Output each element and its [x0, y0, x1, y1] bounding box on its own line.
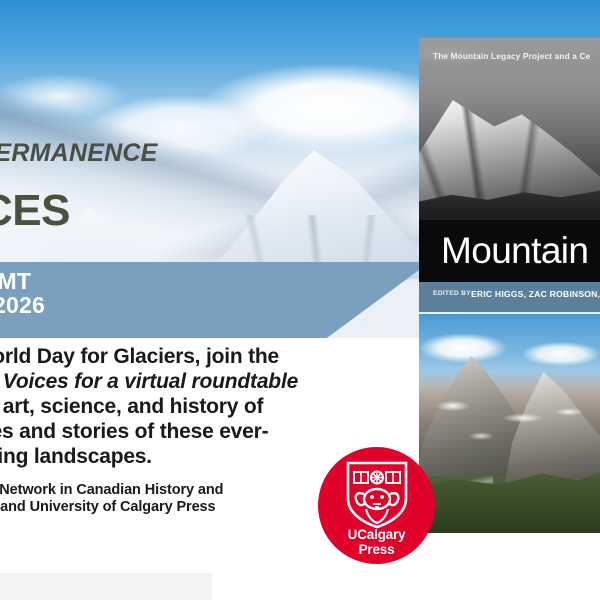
book-cover-editors: ERIC HIGGS, ZAC ROBINSON, MAR: [471, 289, 600, 299]
banner-date-text: RCH 2026: [0, 292, 296, 319]
body-line-4: mages and stories of these ever-: [0, 419, 418, 444]
ucalgary-shield-icon: [346, 461, 408, 529]
logo-line-1: UCalgary: [348, 527, 406, 542]
body-line-3: n the art, science, and history of: [0, 394, 418, 419]
logo-line-2: Press: [318, 542, 435, 557]
lower-photo-snow-patches: [419, 384, 600, 470]
poster-title: IN VOICES: [0, 186, 412, 236]
book-cover-edited-by-label: EDITED BY: [433, 290, 471, 297]
book-cover-image: The Mountain Legacy Project and a Ce Mou…: [419, 38, 600, 312]
lower-mountain-photo: [419, 314, 600, 533]
body-line-1: of World Day for Glaciers, join the: [0, 344, 418, 369]
ucalgary-press-logo: UCalgary Press: [318, 447, 435, 564]
poster-eyebrow: RY, AND PERMANENCE: [0, 139, 410, 168]
body-line-2: ntain Voices for a virtual roundtable: [0, 369, 418, 394]
ucalgary-press-wordmark: UCalgary Press: [318, 527, 435, 557]
book-cover-title: Mountain: [441, 230, 600, 272]
bottom-placeholder-bar: [0, 573, 212, 600]
event-promo-poster: RY, AND PERMANENCE IN VOICES PM MT RCH 2…: [0, 0, 600, 600]
body-line-2-italic: ntain Voices for a virtual roundtable: [0, 370, 298, 393]
book-cover-subtitle: The Mountain Legacy Project and a Ce: [433, 52, 600, 61]
banner-time-text: PM MT: [0, 268, 286, 295]
